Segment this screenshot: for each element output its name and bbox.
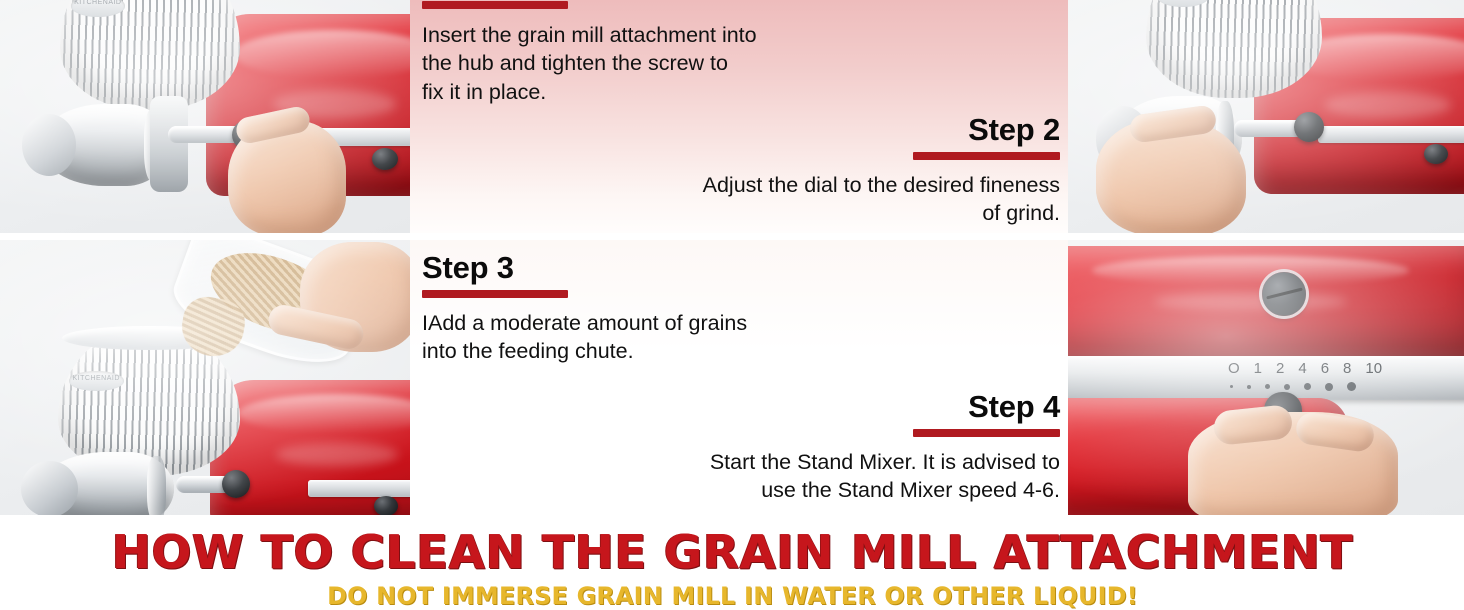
banner-headline: HOW TO CLEAN THE GRAIN MILL ATTACHMENT (111, 529, 1352, 575)
photo-step3: KITCHENAID (0, 240, 410, 515)
text-panel-bottom: Step 3 IAdd a moderate amount of grains … (410, 240, 1068, 515)
step-1-block: Step 1 Insert the grain mill attachment … (422, 0, 852, 106)
steps-row-bottom: KITCHENAID Step 3 IAdd a moderate amount… (0, 240, 1464, 515)
step-4-rule (913, 429, 1060, 437)
step-4-block: Step 4 Start the Stand Mixer. It is advi… (590, 391, 1060, 505)
photo-step1: KITCHENAID (0, 0, 410, 233)
infographic-sheet: KITCHENAID Step 1 Insert the grain mill … (0, 0, 1464, 600)
photo-step4: O 1 2 4 6 8 10 (1068, 240, 1464, 515)
step-2-block: Step 2 Adjust the dial to the desired fi… (590, 114, 1060, 228)
step-2-body: Adjust the dial to the desired fineness … (590, 171, 1060, 228)
step-2-rule (913, 152, 1060, 160)
step-4-heading: Step 4 (590, 391, 1060, 422)
step-3-heading: Step 3 (422, 252, 862, 283)
bottom-banner: HOW TO CLEAN THE GRAIN MILL ATTACHMENT D… (0, 515, 1464, 600)
text-panel-top: Step 1 Insert the grain mill attachment … (410, 0, 1068, 233)
step-3-rule (422, 290, 568, 298)
photo-step2: KITCHENAID (1068, 0, 1464, 233)
step-3-block: Step 3 IAdd a moderate amount of grains … (422, 252, 862, 366)
step-1-body: Insert the grain mill attachment into th… (422, 21, 852, 106)
step-3-body: IAdd a moderate amount of grains into th… (422, 309, 862, 366)
banner-subline: DO NOT IMMERSE GRAIN MILL IN WATER OR OT… (327, 584, 1138, 608)
steps-row-top: KITCHENAID Step 1 Insert the grain mill … (0, 0, 1464, 233)
step-2-heading: Step 2 (590, 114, 1060, 145)
step-4-body: Start the Stand Mixer. It is advised to … (590, 448, 1060, 505)
step-1-rule (422, 1, 568, 9)
